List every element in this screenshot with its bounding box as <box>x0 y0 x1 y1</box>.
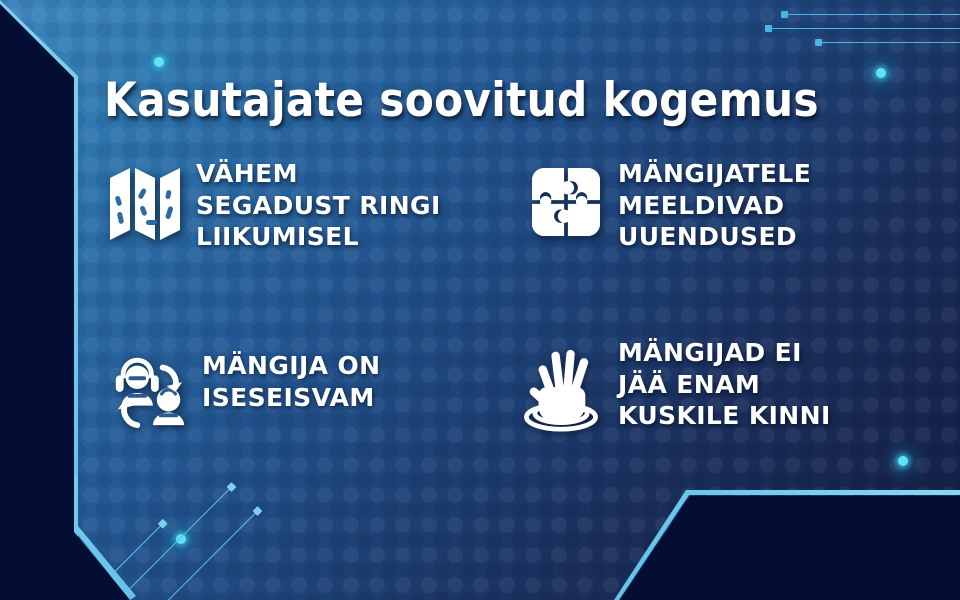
glow-dot <box>876 68 886 78</box>
feature-label-3: Mängija on iseseisvam <box>202 350 381 413</box>
circuit-line-endpoint <box>158 519 168 529</box>
circuit-line-endpoint <box>765 25 772 32</box>
glow-dot <box>154 57 164 67</box>
feature-label-2: Mängijatele meeldivad uuendused <box>618 158 811 253</box>
circuit-line-diagonal <box>168 511 258 600</box>
feature-item-4: Mängijad ei jää enam kuskile kinni <box>514 337 831 435</box>
slide-title: Kasutajate soovitud kogemus <box>104 73 819 128</box>
glow-dot <box>898 456 908 466</box>
circuit-line-endpoint <box>815 39 822 46</box>
sinking-hand-icon <box>514 343 608 435</box>
circuit-line-horizontal <box>820 42 960 43</box>
puzzle-pieces-icon <box>528 162 604 242</box>
feature-item-1: Vähem segadust ringi liikumisel <box>108 158 441 253</box>
circuit-line-endpoint <box>252 506 262 516</box>
corner-panel-bottom-left <box>0 480 130 600</box>
feature-label-4: Mängijad ei jää enam kuskile kinni <box>618 337 831 432</box>
circuit-line-endpoint <box>781 11 788 18</box>
circuit-line-endpoint <box>227 482 237 492</box>
folded-map-icon <box>108 162 182 246</box>
feature-label-1: Vähem segadust ringi liikumisel <box>196 158 441 253</box>
slide-canvas: Kasutajate soovitud kogemus <box>0 0 960 600</box>
feature-item-3: Mängija on iseseisvam <box>108 350 381 428</box>
support-handoff-icon <box>108 350 190 428</box>
feature-item-2: Mängijatele meeldivad uuendused <box>528 158 811 253</box>
corner-panel-bottom-right <box>620 496 960 600</box>
circuit-line-diagonal <box>118 487 232 600</box>
circuit-line-horizontal <box>770 28 960 29</box>
circuit-line-horizontal <box>786 14 960 15</box>
corner-panel-top-left <box>0 0 74 560</box>
